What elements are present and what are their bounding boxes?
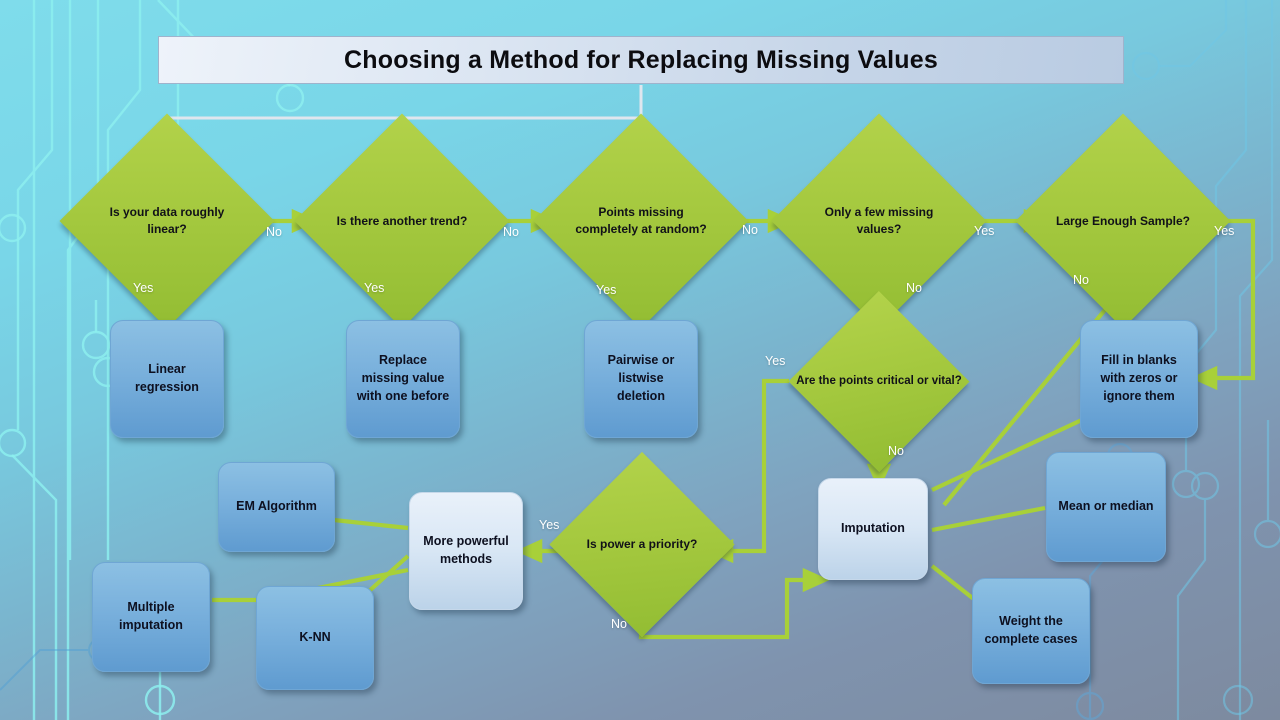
decision-is-power-a-priority[interactable]: Is power a priority? xyxy=(564,479,720,610)
node-label: EM Algorithm xyxy=(236,498,317,516)
process-mean-or-median[interactable]: Mean or median xyxy=(1046,452,1166,562)
decision-points-critical-or-vital[interactable]: Are the points critical or vital? xyxy=(790,325,968,438)
process-fill-blanks-zeros[interactable]: Fill in blanks with zeros or ignore them xyxy=(1080,320,1198,438)
node-label: Fill in blanks with zeros or ignore them xyxy=(1089,352,1189,405)
edge-label-few-yes: Yes xyxy=(974,224,994,238)
edge-label-power-yes: Yes xyxy=(539,518,559,532)
edge-label-sample-no: No xyxy=(1073,273,1089,287)
process-multiple-imputation[interactable]: Multiple imputation xyxy=(92,562,210,672)
node-label: Large Enough Sample? xyxy=(1050,213,1196,230)
process-linear-regression[interactable]: Linear regression xyxy=(110,320,224,438)
node-label: Weight the complete cases xyxy=(981,613,1081,649)
process-pairwise-or-listwise-deletion[interactable]: Pairwise or listwise deletion xyxy=(584,320,698,438)
node-label: Is power a priority? xyxy=(581,536,704,553)
decision-another-trend[interactable]: Is there another trend? xyxy=(326,145,478,297)
node-label: Is there another trend? xyxy=(331,213,474,230)
process-more-powerful-methods[interactable]: More powerful methods xyxy=(409,492,523,610)
decision-only-a-few-missing-values[interactable]: Only a few missing values? xyxy=(803,145,955,297)
process-imputation[interactable]: Imputation xyxy=(818,478,928,580)
decision-missing-completely-at-random[interactable]: Points missing completely at random? xyxy=(565,145,717,297)
edge-label-few-no: No xyxy=(906,281,922,295)
decision-large-enough-sample[interactable]: Large Enough Sample? xyxy=(1047,145,1199,297)
edge-label-critical-yes: Yes xyxy=(765,354,785,368)
process-weight-complete-cases[interactable]: Weight the complete cases xyxy=(972,578,1090,684)
process-knn[interactable]: K-NN xyxy=(256,586,374,690)
edge-label-critical-no: No xyxy=(888,444,904,458)
node-label: Only a few missing values? xyxy=(803,204,955,237)
edge-label-mcar-no: No xyxy=(742,223,758,237)
node-label: Pairwise or listwise deletion xyxy=(593,352,689,405)
node-label: K-NN xyxy=(299,629,330,647)
edge-label-sample-yes: Yes xyxy=(1214,224,1234,238)
edge-label-trend-yes: Yes xyxy=(364,281,384,295)
node-label: Linear regression xyxy=(119,361,215,397)
flowchart-canvas: Choosing a Method for Replacing Missing … xyxy=(0,0,1280,720)
process-em-algorithm[interactable]: EM Algorithm xyxy=(218,462,335,552)
node-label: More powerful methods xyxy=(418,533,514,569)
node-label: Replace missing value with one before xyxy=(355,352,451,405)
node-label: Imputation xyxy=(841,520,905,538)
process-replace-with-one-before[interactable]: Replace missing value with one before xyxy=(346,320,460,438)
node-label: Mean or median xyxy=(1058,498,1153,516)
edge-label-mcar-yes: Yes xyxy=(596,283,616,297)
node-label: Multiple imputation xyxy=(101,599,201,635)
edge-label-linear-yes: Yes xyxy=(133,281,153,295)
decision-is-data-linear[interactable]: Is your data roughly linear? xyxy=(91,145,243,297)
edge-label-trend-no: No xyxy=(503,225,519,239)
node-label: Are the points critical or vital? xyxy=(790,374,968,390)
node-label: Is your data roughly linear? xyxy=(91,204,243,237)
diagram-title-banner: Choosing a Method for Replacing Missing … xyxy=(158,36,1124,84)
node-label: Points missing completely at random? xyxy=(565,204,717,237)
page-title: Choosing a Method for Replacing Missing … xyxy=(344,46,938,75)
edge-label-power-no: No xyxy=(611,617,627,631)
edge-label-linear-no: No xyxy=(266,225,282,239)
